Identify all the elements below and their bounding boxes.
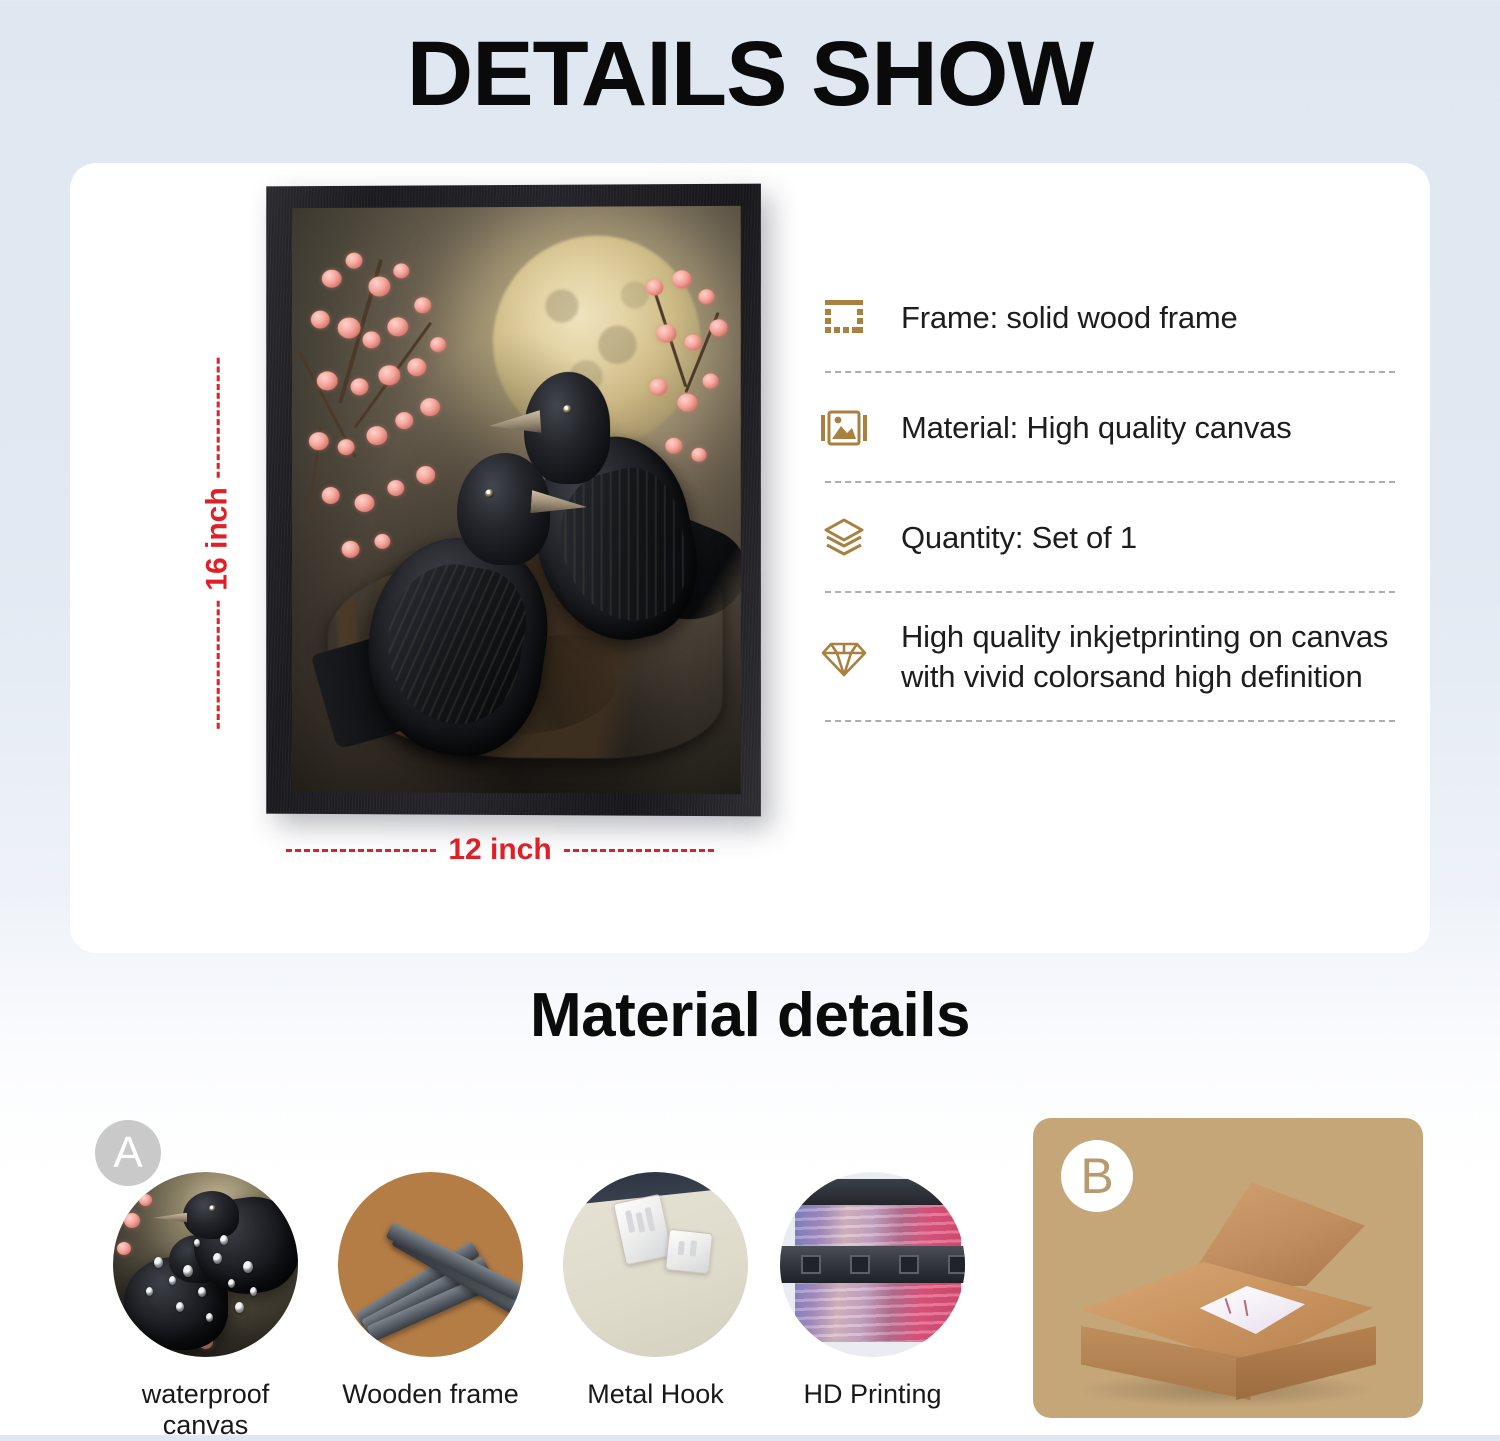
shipping-box-illustration [1061, 1176, 1401, 1406]
thumbnail-wooden-frame[interactable]: Wooden frame [338, 1172, 523, 1410]
feature-item-frame: Frame: solid wood frame [815, 281, 1395, 359]
page-title: DETAILS SHOW [0, 0, 1500, 123]
artwork-scene [292, 206, 741, 794]
diamond-icon [815, 628, 873, 686]
dimension-dash-end [564, 849, 714, 852]
canvas-artwork [292, 206, 741, 794]
thumbnail-metal-hook[interactable]: Metal Hook [563, 1172, 748, 1410]
material-section-title: Material details [0, 980, 1500, 1051]
thumbnail-label: Wooden frame [338, 1379, 523, 1410]
dimension-dash-start [286, 849, 436, 852]
feature-separator [825, 371, 1395, 373]
dimension-width: 12 inch [245, 833, 755, 867]
feature-label: High quality inkjetprinting on canvas wi… [901, 617, 1388, 698]
metal-hook-thumb [563, 1172, 748, 1357]
feature-item-quantity: Quantity: Set of 1 [815, 501, 1395, 579]
dimension-dash-right [217, 357, 220, 477]
feature-label: Frame: solid wood frame [901, 298, 1238, 338]
thumbnail-label: waterproof canvas [113, 1379, 298, 1441]
feature-separator [825, 591, 1395, 593]
material-thumbnails: A [95, 1120, 985, 1420]
feature-list: Frame: solid wood frame Material: High q… [815, 281, 1395, 740]
thumbnail-label: HD Printing [780, 1379, 965, 1410]
frame-icon [815, 289, 873, 347]
feature-item-material: Material: High quality canvas [815, 391, 1395, 469]
printer-thumb [780, 1172, 965, 1357]
feature-separator [825, 481, 1395, 483]
thumbnail-hd-printing[interactable]: HD Printing [780, 1172, 965, 1410]
packaging-panel: B [1033, 1118, 1423, 1418]
dimension-width-label: 12 inch [448, 833, 551, 867]
layers-icon [815, 509, 873, 567]
feature-label: Material: High quality canvas [901, 408, 1292, 448]
dimension-height-label: 16 inch [201, 487, 235, 590]
feature-separator [825, 720, 1395, 722]
dimension-dash-left [217, 601, 220, 729]
artwork-zone: 16 inch [190, 173, 750, 873]
wood-sticks-thumb [338, 1172, 523, 1357]
canvas-droplets-thumb [113, 1172, 298, 1357]
thumbnail-waterproof-canvas[interactable]: waterproof canvas [113, 1172, 298, 1441]
dimension-height: 16 inch [198, 323, 238, 763]
image-icon [815, 399, 873, 457]
thumbnail-label: Metal Hook [563, 1379, 748, 1410]
raven-lower [354, 453, 587, 782]
feature-item-printing: High quality inkjetprinting on canvas wi… [815, 611, 1395, 708]
details-card: 16 inch [70, 163, 1430, 953]
feature-label: Quantity: Set of 1 [901, 518, 1137, 558]
picture-frame [266, 184, 761, 817]
